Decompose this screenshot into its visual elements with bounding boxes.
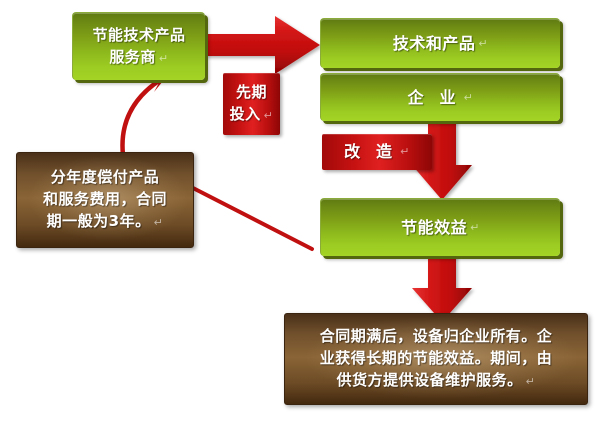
node-service-provider-line2: 服务商 [109, 48, 156, 66]
node-service-provider[interactable]: 节能技术产品 服务商↵ [72, 12, 205, 80]
node-contract-end-note[interactable]: 合同期满后，设备归企业所有。企 业获得长期的节能效益。期间，由 供货方提供设备维… [284, 313, 588, 405]
node-initial-investment[interactable]: 先期 投入↵ [223, 73, 280, 135]
paragraph-mark-icon: ↵ [526, 375, 536, 388]
arrow-provider-to-technology [205, 16, 320, 74]
arrow-payment-note-to-provider [122, 70, 172, 155]
node-contract-end-note-text: 合同期满后，设备归企业所有。企 业获得长期的节能效益。期间，由 供货方提供设备维… [310, 326, 563, 391]
paragraph-mark-icon: ↵ [154, 216, 164, 229]
node-technology-products-label: 技术和产品 [393, 32, 476, 55]
paragraph-mark-icon: ↵ [464, 90, 474, 106]
node-contract-end-note-line2: 业获得长期的节能效益。期间，由 [320, 349, 553, 367]
node-payment-note-line2: 和服务费用，合同 [43, 190, 167, 208]
node-initial-investment-line2: 投入 [230, 105, 261, 123]
node-energy-saving-benefit-label: 节能效益 [401, 216, 467, 239]
node-enterprise-label: 企 业 [408, 86, 461, 109]
paragraph-mark-icon: ↵ [400, 144, 410, 160]
node-retrofit-label: 改 造 [344, 140, 397, 163]
arrow-benefit-to-contract-note [412, 252, 472, 322]
node-enterprise[interactable]: 企 业↵ [320, 73, 560, 121]
node-payment-note-line1: 分年度偿付产品 [51, 168, 160, 186]
node-energy-saving-benefit[interactable]: 节能效益↵ [320, 198, 560, 256]
node-contract-end-note-line1: 合同期满后，设备归企业所有。企 [320, 327, 553, 345]
node-payment-note-line3: 期一般为3年。 [47, 212, 151, 230]
node-initial-investment-text: 先期 投入↵ [230, 82, 274, 126]
node-payment-note-text: 分年度偿付产品 和服务费用，合同 期一般为3年。↵ [33, 167, 177, 232]
diagram-canvas: 节能技术产品 服务商↵ 技术和产品↵ 企 业↵ 节能效益↵ 先期 投入↵ 改 造… [0, 0, 605, 421]
paragraph-mark-icon: ↵ [264, 109, 274, 122]
line-benefit-to-payment-note [193, 188, 312, 249]
paragraph-mark-icon: ↵ [470, 220, 480, 236]
paragraph-mark-icon: ↵ [478, 36, 488, 52]
node-retrofit[interactable]: 改 造↵ [322, 134, 432, 170]
node-contract-end-note-line3: 供货方提供设备维护服务。 [337, 371, 523, 389]
node-initial-investment-line1: 先期 [236, 83, 267, 101]
node-service-provider-line1: 节能技术产品 [92, 26, 185, 44]
node-technology-products[interactable]: 技术和产品↵ [320, 18, 560, 68]
paragraph-mark-icon: ↵ [159, 52, 169, 65]
node-service-provider-text: 节能技术产品 服务商↵ [92, 25, 185, 69]
node-payment-note[interactable]: 分年度偿付产品 和服务费用，合同 期一般为3年。↵ [16, 152, 194, 248]
